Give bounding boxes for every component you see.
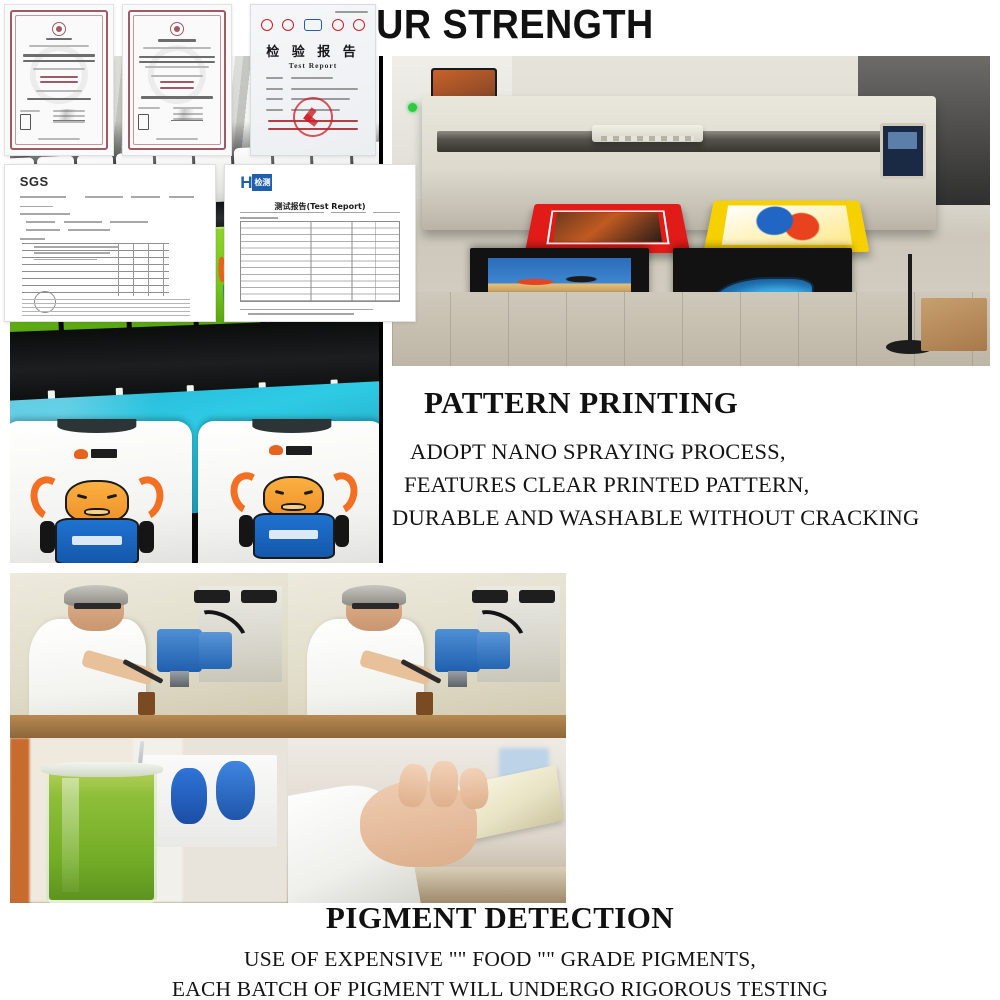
h-results-table: [240, 221, 400, 302]
infographic-page: OUR STRENGTH: [0, 0, 1000, 1000]
sgs-results-table: [22, 243, 169, 296]
official-red-stamp: [290, 94, 335, 139]
h-report-title: 测试报告(Test Report): [225, 201, 415, 212]
inspection-report-title-cn: 检 验 报 告: [251, 41, 375, 60]
pigment-detection-line-1: USE OF EXPENSIVE "" FOOD "" GRADE PIGMEN…: [0, 944, 1000, 974]
document-h-test-report: H检测 测试报告(Test Report): [224, 164, 416, 322]
inspection-report-title-en: Test Report: [251, 61, 375, 70]
documents-panel: 检 验 报 告 Test Report SGS: [0, 0, 420, 330]
document-iso-certificate-english: [122, 4, 232, 156]
sgs-footer-disclaimer: [22, 299, 190, 316]
pigment-detection-text-block: PIGMENT DETECTION USE OF EXPENSIVE "" FO…: [0, 900, 1000, 1000]
document-sgs-test-report: SGS: [4, 164, 216, 322]
pigment-detection-heading: PIGMENT DETECTION: [0, 900, 1000, 936]
sgs-logo: SGS: [20, 174, 49, 189]
document-inspection-report: 检 验 报 告 Test Report: [250, 4, 376, 156]
h-lab-logo: H检测: [240, 174, 272, 191]
certification-logos: [261, 19, 365, 31]
document-iso-certificate-chinese: [4, 4, 114, 156]
pigment-detection-line-2: EACH BATCH OF PIGMENT WILL UNDERGO RIGOR…: [0, 974, 1000, 1000]
